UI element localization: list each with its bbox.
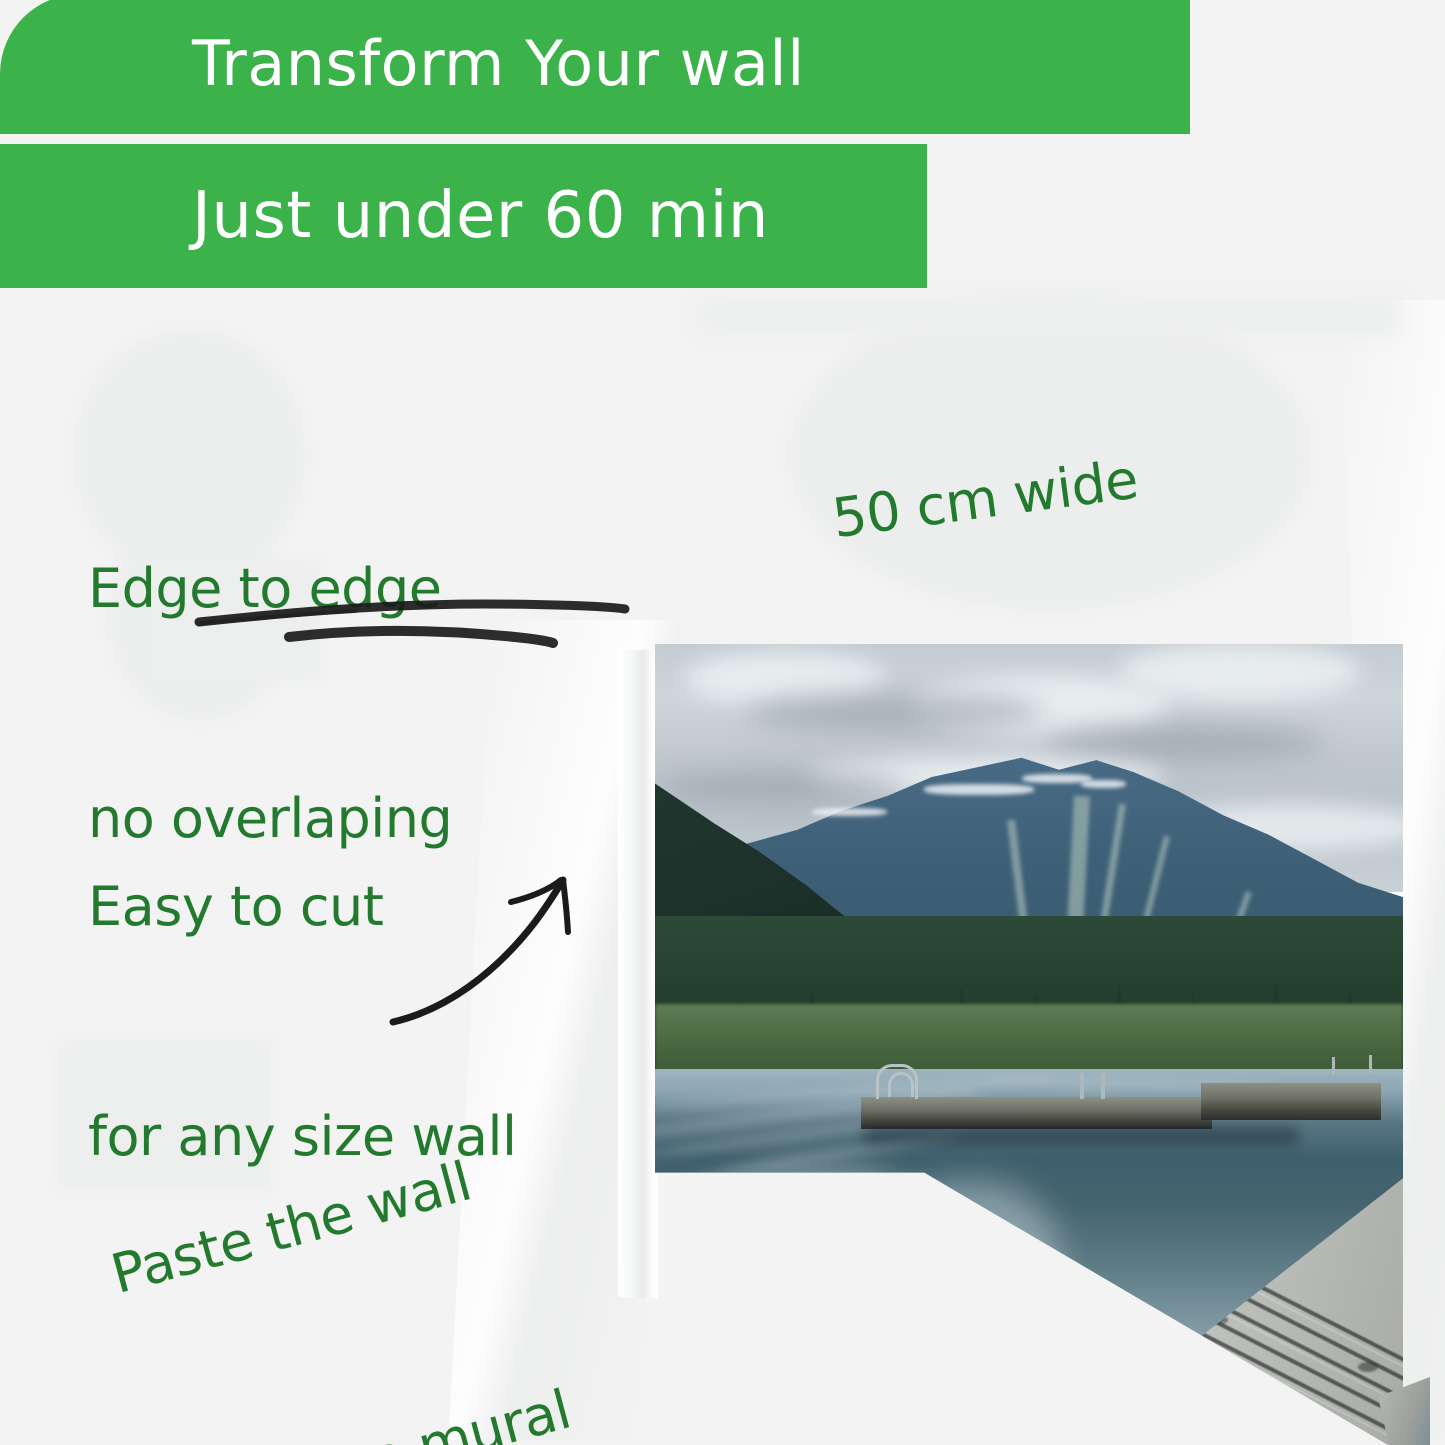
- photo-cloud-4: [745, 692, 1045, 732]
- mural-photo: [655, 644, 1403, 1445]
- photo-dock-plank-highlight: [954, 1385, 1403, 1445]
- photo-platform-reflection: [864, 1127, 1298, 1145]
- photo-dock-knot: [1358, 1362, 1378, 1372]
- photo-snowcap-4: [1081, 780, 1126, 788]
- banner-headline: Transform Your wall: [0, 0, 1190, 134]
- photo-snowcap-1: [924, 784, 1034, 795]
- mural-photo-scene: [655, 644, 1403, 1445]
- photo-dock-knot: [1122, 1400, 1136, 1407]
- photo-post-4: [1369, 1055, 1372, 1073]
- banner-time-label: Just under 60 min: [192, 184, 769, 248]
- photo-lake-reflection-2: [879, 1181, 1059, 1351]
- photo-shore-grass: [655, 1004, 1403, 1076]
- callout-cut-line-1: Easy to cut: [88, 869, 516, 946]
- banner-headline-label: Transform Your wall: [192, 33, 805, 95]
- photo-cloud-5: [1044, 724, 1324, 760]
- photo-post-3: [1332, 1057, 1335, 1075]
- photo-cloud-7: [655, 772, 905, 802]
- photo-dock-plank: [954, 1377, 1403, 1445]
- callout-panels-line-1: 50 cm wide: [828, 415, 1344, 558]
- roll-curl-edge: [618, 650, 658, 1298]
- wallpaper-mural-roll: [618, 644, 1430, 1445]
- photo-swim-platform: [861, 1097, 1213, 1129]
- callout-paste-line-2: not the mural: [209, 1369, 580, 1445]
- photo-swim-platform-right: [1201, 1083, 1381, 1120]
- photo-post-2: [1101, 1073, 1105, 1099]
- photo-lake-reflection-3: [790, 1249, 1090, 1429]
- callout-paste-line-1: Paste the wall: [102, 1131, 515, 1315]
- photo-snowcap-3: [812, 808, 887, 816]
- photo-dock-plank-highlight: [954, 1331, 1403, 1445]
- photo-post-1: [1080, 1073, 1084, 1099]
- poster-canvas: Transform Your wall Just under 60 min Ed…: [0, 0, 1445, 1445]
- photo-lake-reflection-1: [700, 1166, 930, 1316]
- photo-cloud-3: [1119, 644, 1359, 699]
- callout-edge-line-1: Edge to edge: [88, 551, 452, 628]
- photo-ladder-inner: [888, 1072, 914, 1097]
- photo-dock-plank: [954, 1431, 1403, 1445]
- banner-time: Just under 60 min: [0, 144, 927, 288]
